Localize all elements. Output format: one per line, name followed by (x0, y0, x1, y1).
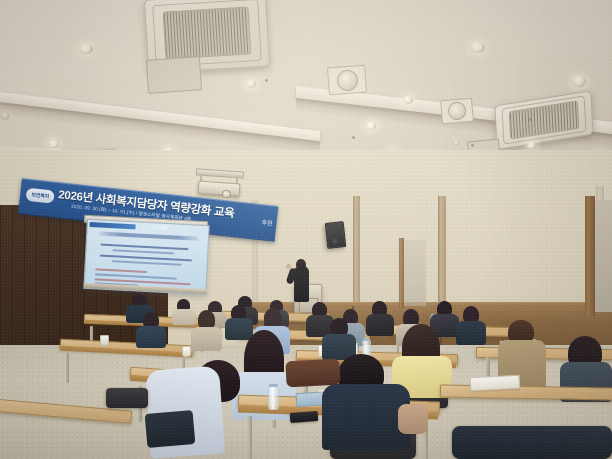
photo-scene: 보건복지 2026년 사회복지담당자 역량강화 교육 2026. 09. 30.… (0, 0, 612, 459)
paper-cup (100, 335, 109, 346)
projector-lens-icon (222, 190, 232, 199)
ceiling-downlight (470, 42, 485, 53)
ceiling-downlight (79, 44, 93, 54)
banner-logo: 보건복지 (26, 188, 55, 204)
ceiling-access-panel (146, 56, 202, 94)
ceiling-downlight (246, 80, 256, 88)
paper-cup (182, 346, 191, 357)
wall-speaker (325, 221, 347, 249)
tote-bag (145, 410, 196, 448)
presenter-body (294, 266, 309, 302)
desk-leg (66, 353, 69, 383)
ceiling-downlight (0, 112, 10, 120)
door-panel[interactable] (404, 240, 426, 306)
slide-tab-label (137, 224, 167, 230)
sprinkler-head (352, 136, 355, 139)
door-panel[interactable] (595, 200, 612, 312)
sprinkler-head (265, 79, 268, 82)
handout-paper (470, 375, 521, 392)
slide-heading (99, 231, 198, 240)
door-frame[interactable] (585, 196, 595, 316)
ceiling-speaker (440, 98, 474, 125)
slide-tab (90, 221, 136, 228)
chair (452, 426, 612, 459)
desk (440, 384, 612, 398)
banner-right-mark: 후원 (261, 217, 273, 227)
presenter-hand (286, 264, 291, 269)
ceiling-downlight (366, 122, 376, 130)
desk-leg (248, 416, 252, 459)
water-bottle (268, 386, 279, 410)
ceiling-downlight (572, 76, 586, 87)
ceiling-downlight (452, 140, 460, 146)
ceiling-downlight (527, 142, 536, 149)
smartphone (290, 411, 319, 423)
folded-coat (285, 359, 340, 388)
sprinkler-head (471, 144, 474, 147)
wall-pillar (438, 196, 446, 316)
sprinkler-head (528, 118, 531, 121)
ceiling-speaker (327, 65, 367, 96)
ceiling-downlight (403, 96, 413, 104)
ceiling-downlight (49, 140, 59, 148)
chair (106, 388, 148, 408)
presenter-head (296, 259, 306, 270)
wall-pillar (353, 196, 360, 316)
